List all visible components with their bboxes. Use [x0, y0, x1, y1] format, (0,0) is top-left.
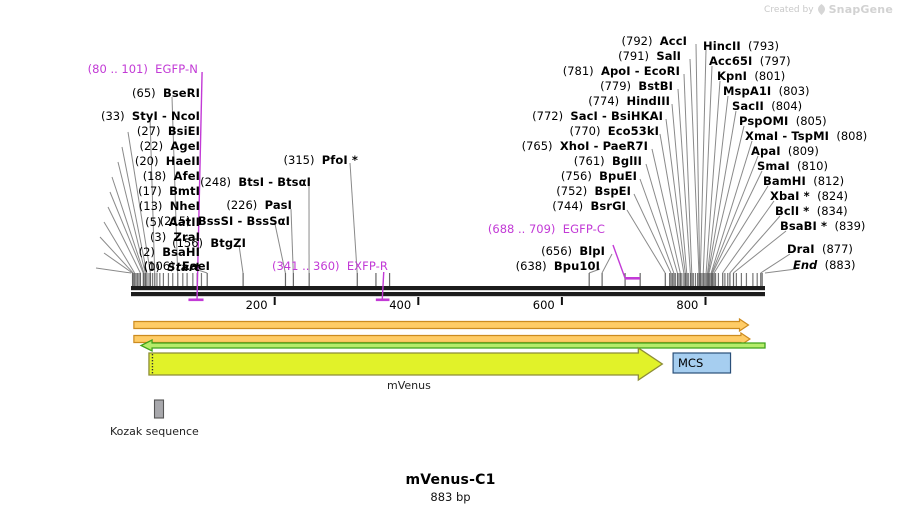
site-position: (688 .. 709)	[488, 222, 556, 236]
restriction-tick	[741, 273, 742, 286]
site-position: (752)	[556, 184, 587, 198]
site-position: (341 .. 360)	[272, 259, 340, 273]
site-label-pasi: (226) PasI	[226, 200, 292, 212]
site-enzyme: PasI	[265, 198, 292, 212]
restriction-tick	[602, 273, 603, 286]
site-label-btsibtsi: (248) BtsI - BtsαI	[200, 177, 311, 189]
site-label-bspei: (752) BspEI	[556, 186, 631, 198]
site-label-smai: SmaI (810)	[757, 161, 828, 173]
site-position: (18)	[143, 169, 167, 183]
site-enzyme: BclI *	[775, 204, 809, 218]
site-position: (792)	[622, 34, 653, 48]
restriction-tick	[207, 273, 208, 286]
site-label-egfpc: (688 .. 709) EGFP-C	[488, 224, 605, 236]
site-position: (248)	[200, 175, 231, 189]
primer-egfp-n-segment	[188, 299, 203, 302]
site-enzyme: Acc65I	[709, 54, 752, 68]
site-label-xmaitspmi: XmaI - TspMI (808)	[745, 131, 867, 143]
site-position: (809)	[788, 144, 819, 158]
restriction-tick	[154, 273, 155, 286]
restriction-tick	[177, 273, 178, 286]
site-enzyme: XmaI - TspMI	[745, 129, 829, 143]
restriction-tick	[673, 273, 674, 286]
site-enzyme: AccI	[660, 34, 687, 48]
site-position: (791)	[618, 49, 649, 63]
ruler-number-800: 800	[676, 298, 698, 312]
site-label-eco53ki: (770) Eco53kI	[570, 126, 659, 138]
site-position: (770)	[570, 124, 601, 138]
site-position: (803)	[779, 84, 810, 98]
site-enzyme: AfeI	[174, 169, 200, 183]
feature-label-mcs: MCS	[678, 356, 703, 370]
site-label-apoiecori: (781) ApoI - EcoRI	[563, 66, 680, 78]
restriction-tick	[680, 273, 681, 286]
restriction-tick	[736, 273, 737, 286]
restriction-tick	[182, 273, 183, 286]
feature-track-group	[134, 319, 765, 418]
restriction-tick	[163, 273, 164, 286]
site-enzyme: ApaI	[751, 144, 781, 158]
watermark-created-by: Created by	[764, 5, 814, 15]
restriction-tick	[148, 273, 149, 286]
site-enzyme: MspA1I	[723, 84, 771, 98]
site-label-agei: (22) AgeI	[139, 141, 200, 153]
snapgene-watermark: Created by SnapGene	[764, 3, 893, 16]
restriction-tick	[757, 273, 758, 286]
site-label-bsrgi: (744) BsrGI	[552, 201, 626, 213]
plasmid-name: mVenus-C1	[0, 472, 901, 488]
restriction-tick	[187, 273, 188, 286]
site-position: (883)	[825, 258, 856, 272]
restriction-tick	[678, 273, 679, 286]
restriction-tick	[134, 273, 135, 286]
site-label-bpu10i: (638) Bpu10I	[516, 261, 600, 273]
site-enzyme: BsiEI	[168, 124, 200, 138]
restriction-tick	[138, 273, 139, 286]
site-enzyme: BspEI	[595, 184, 631, 198]
site-position: (22)	[139, 139, 163, 153]
site-enzyme: BglII	[612, 154, 642, 168]
site-position: (80 .. 101)	[88, 62, 148, 76]
site-position: (3)	[150, 230, 166, 244]
primer-egfp-c-segment	[625, 277, 640, 280]
restriction-tick-group	[132, 273, 763, 286]
site-enzyme: XhoI - PaeR7I	[560, 139, 648, 153]
site-enzyme: EGFP-N	[155, 62, 198, 76]
restriction-tick	[690, 273, 691, 286]
restriction-tick	[681, 273, 682, 286]
site-label-acci: (792) AccI	[622, 36, 687, 48]
restriction-tick	[145, 273, 146, 286]
ruler-tick	[417, 297, 419, 305]
site-label-blpi: (656) BlpI	[541, 246, 605, 258]
site-label-nhei: (13) NheI	[139, 201, 200, 213]
site-label-bglii: (761) BglII	[574, 156, 642, 168]
restriction-tick	[701, 273, 702, 286]
site-enzyme: HincII	[703, 39, 741, 53]
ruler-number-400: 400	[389, 298, 411, 312]
site-label-afei: (18) AfeI	[143, 171, 200, 183]
restriction-tick	[172, 273, 173, 286]
site-label-bsabi: BsaBI * (839)	[780, 221, 865, 233]
restriction-tick	[389, 273, 390, 286]
restriction-tick	[136, 273, 137, 286]
restriction-tick	[762, 273, 763, 286]
restriction-tick	[309, 273, 310, 286]
site-position: (106)	[144, 259, 175, 273]
restriction-tick	[718, 273, 719, 286]
site-position: (744)	[552, 199, 583, 213]
restriction-tick	[722, 273, 723, 286]
site-label-bsiei: (27) BsiEI	[137, 126, 200, 138]
restriction-tick	[670, 273, 671, 286]
title-block: mVenus-C1 883 bp	[0, 472, 901, 504]
site-enzyme: DraI	[787, 242, 815, 256]
site-label-xbai: XbaI * (824)	[770, 191, 848, 203]
restriction-tick	[729, 273, 730, 286]
restriction-tick	[712, 273, 713, 286]
restriction-tick	[688, 273, 689, 286]
site-label-bsssibsssi: (215) BssSI - BssSαI	[160, 216, 290, 228]
restriction-tick	[700, 273, 701, 286]
site-label-bstbi: (779) BstBI	[600, 81, 673, 93]
site-enzyme: End	[793, 258, 817, 272]
backbone-group	[131, 286, 765, 296]
site-enzyme: EGFP-C	[563, 222, 605, 236]
restriction-tick	[589, 273, 590, 286]
site-position: (27)	[137, 124, 161, 138]
site-enzyme: SacI - BsiHKAI	[570, 109, 663, 123]
ruler-tick	[705, 297, 707, 305]
feature-caption-mvenus: mVenus	[387, 379, 431, 392]
restriction-tick	[752, 273, 753, 286]
restriction-tick	[168, 273, 169, 286]
site-position: (17)	[138, 184, 162, 198]
restriction-tick	[137, 273, 138, 286]
restriction-tick	[156, 273, 157, 286]
site-enzyme: PspOMI	[739, 114, 788, 128]
restriction-tick	[665, 273, 666, 286]
site-enzyme: SmaI	[757, 159, 790, 173]
restriction-tick	[375, 273, 376, 286]
site-enzyme: Bpu10I	[554, 259, 600, 273]
site-label-haeii: (20) HaeII	[135, 156, 200, 168]
site-label-pspomi: PspOMI (805)	[739, 116, 827, 128]
ruler-number-200: 200	[246, 298, 268, 312]
site-label-bmti: (17) BmtI	[138, 186, 200, 198]
restriction-tick	[693, 273, 694, 286]
restriction-tick	[704, 273, 705, 286]
ruler-number-600: 600	[533, 298, 555, 312]
restriction-tick	[724, 273, 725, 286]
site-label-drai: DraI (877)	[787, 244, 853, 256]
site-enzyme: StyI - NcoI	[132, 109, 200, 123]
site-position: (781)	[563, 64, 594, 78]
ruler-tick	[561, 297, 563, 305]
site-label-pfoi: (315) PfoI *	[284, 155, 358, 167]
site-enzyme: BssSI - BssSαI	[198, 214, 290, 228]
leader-line	[713, 171, 762, 273]
site-position: (834)	[817, 204, 848, 218]
plasmid-length: 883 bp	[0, 490, 901, 504]
site-position: (765)	[522, 139, 553, 153]
site-position: (793)	[748, 39, 779, 53]
site-enzyme: NheI	[170, 199, 200, 213]
site-label-styincoi: (33) StyI - NcoI	[101, 111, 200, 123]
restriction-tick	[675, 273, 676, 286]
site-label-bcli: BclI * (834)	[775, 206, 848, 218]
site-label-bpuei: (756) BpuEI	[561, 171, 637, 183]
plasmid-map-canvas: (80 .. 101) EGFP-N(65) BseRI(33) StyI - …	[0, 0, 901, 514]
restriction-tick	[293, 273, 294, 286]
restriction-tick	[159, 273, 160, 286]
site-position: (761)	[574, 154, 605, 168]
site-label-sali: (791) SalI	[618, 51, 681, 63]
site-position: (215)	[160, 214, 191, 228]
site-enzyme: EXFP-R	[347, 259, 388, 273]
site-enzyme: BsrGI	[591, 199, 627, 213]
site-position: (804)	[771, 99, 802, 113]
restriction-tick	[760, 273, 761, 286]
site-enzyme: PfoI *	[322, 153, 358, 167]
site-enzyme: BlpI	[579, 244, 605, 258]
restriction-tick	[685, 273, 686, 286]
site-label-eaei: (106) EaeI	[144, 261, 210, 273]
restriction-tick	[192, 273, 193, 286]
restriction-tick	[733, 273, 734, 286]
site-position: (33)	[101, 109, 125, 123]
site-label-bseri: (65) BseRI	[132, 88, 200, 100]
site-enzyme: SalI	[656, 49, 681, 63]
site-label-xhoipaer7i: (765) XhoI - PaeR7I	[522, 141, 648, 153]
site-label-exfpr: (341 .. 360) EXFP-R	[272, 261, 388, 273]
leader-line	[711, 141, 752, 273]
backbone-strand-top	[131, 286, 765, 290]
site-position: (824)	[817, 189, 848, 203]
restriction-tick	[691, 273, 692, 286]
site-position: (810)	[797, 159, 828, 173]
leader-line	[730, 216, 780, 273]
restriction-tick	[140, 273, 141, 286]
leader-line	[733, 231, 786, 273]
site-label-sacii: SacII (804)	[732, 101, 802, 113]
site-enzyme: BsaBI *	[780, 219, 827, 233]
primer-egfp-c-leader	[613, 245, 625, 278]
leader-line	[765, 269, 796, 273]
site-position: (2)	[139, 245, 155, 259]
site-enzyme: Eco53kI	[608, 124, 659, 138]
leader-line	[350, 163, 357, 273]
site-enzyme: HaeII	[166, 154, 200, 168]
restriction-tick	[152, 273, 153, 286]
site-enzyme: KpnI	[717, 69, 747, 83]
site-enzyme: ApoI - EcoRI	[601, 64, 680, 78]
restriction-tick	[150, 273, 151, 286]
restriction-tick	[683, 273, 684, 286]
site-position: (756)	[561, 169, 592, 183]
restriction-tick	[146, 273, 147, 286]
site-position: (65)	[132, 86, 156, 100]
site-position: (808)	[836, 129, 867, 143]
site-enzyme: BamHI	[763, 174, 806, 188]
site-label-sacibsihkai: (772) SacI - BsiHKAI	[532, 111, 663, 123]
restriction-tick	[133, 273, 134, 286]
site-position: (226)	[226, 198, 257, 212]
restriction-tick	[715, 273, 716, 286]
site-position: (812)	[813, 174, 844, 188]
site-label-bamhi: BamHI (812)	[763, 176, 844, 188]
site-label-apai: ApaI (809)	[751, 146, 819, 158]
restriction-tick	[243, 273, 244, 286]
site-label-btgzi: (156) BtgZI	[172, 238, 246, 250]
watermark-brand: SnapGene	[829, 3, 893, 16]
restriction-tick	[686, 273, 687, 286]
site-position: (805)	[796, 114, 827, 128]
site-position: (156)	[172, 236, 203, 250]
site-enzyme: BstBI	[638, 79, 673, 93]
restriction-tick	[697, 273, 698, 286]
restriction-tick	[703, 273, 704, 286]
site-position: (20)	[135, 154, 159, 168]
site-position: (839)	[834, 219, 865, 233]
site-enzyme: AgeI	[170, 139, 200, 153]
feature-kozak-box	[155, 400, 164, 418]
restriction-tick	[672, 273, 673, 286]
site-label-kpni: KpnI (801)	[717, 71, 785, 83]
feature-mvenus-arrow	[149, 348, 662, 380]
site-label-end: End (883)	[793, 260, 856, 272]
site-position: (797)	[760, 54, 791, 68]
feature-caption-kozak: Kozak sequence	[110, 425, 199, 438]
site-label-hindiii: (774) HindIII	[588, 96, 670, 108]
restriction-tick	[746, 273, 747, 286]
ruler-tick-group	[274, 297, 707, 305]
site-label-acc65i: Acc65I (797)	[709, 56, 791, 68]
site-enzyme: BpuEI	[599, 169, 637, 183]
site-enzyme: XbaI *	[770, 189, 810, 203]
site-enzyme: EaeI	[182, 259, 210, 273]
snapgene-logo-icon	[818, 4, 825, 15]
restriction-tick	[201, 273, 202, 286]
leader-line	[646, 164, 677, 273]
site-label-hincii: HincII (793)	[703, 41, 779, 53]
restriction-tick	[695, 273, 696, 286]
site-position: (656)	[541, 244, 572, 258]
restriction-tick	[285, 273, 286, 286]
site-position: (638)	[516, 259, 547, 273]
site-enzyme: BmtI	[169, 184, 200, 198]
restriction-tick	[709, 273, 710, 286]
site-enzyme: HindIII	[626, 94, 670, 108]
site-position: (779)	[600, 79, 631, 93]
site-enzyme: SacII	[732, 99, 764, 113]
restriction-tick	[143, 273, 144, 286]
site-enzyme: BtgZI	[210, 236, 246, 250]
site-position: (772)	[532, 109, 563, 123]
site-enzyme: BtsI - BtsαI	[238, 175, 311, 189]
site-label-egfpn: (80 .. 101) EGFP-N	[88, 64, 198, 76]
site-position: (801)	[754, 69, 785, 83]
site-enzyme: BseRI	[163, 86, 200, 100]
site-position: (774)	[588, 94, 619, 108]
backbone-strand-bottom	[131, 292, 765, 296]
restriction-tick	[714, 273, 715, 286]
restriction-tick	[669, 273, 670, 286]
restriction-tick	[357, 273, 358, 286]
restriction-tick	[677, 273, 678, 286]
site-position: (315)	[284, 153, 315, 167]
site-position: (13)	[139, 199, 163, 213]
restriction-tick	[727, 273, 728, 286]
site-label-mspa1i: MspA1I (803)	[723, 86, 810, 98]
feature-orange-arrow-1	[134, 319, 749, 331]
restriction-tick	[706, 273, 707, 286]
ruler-tick	[274, 297, 276, 305]
site-position: (877)	[822, 242, 853, 256]
